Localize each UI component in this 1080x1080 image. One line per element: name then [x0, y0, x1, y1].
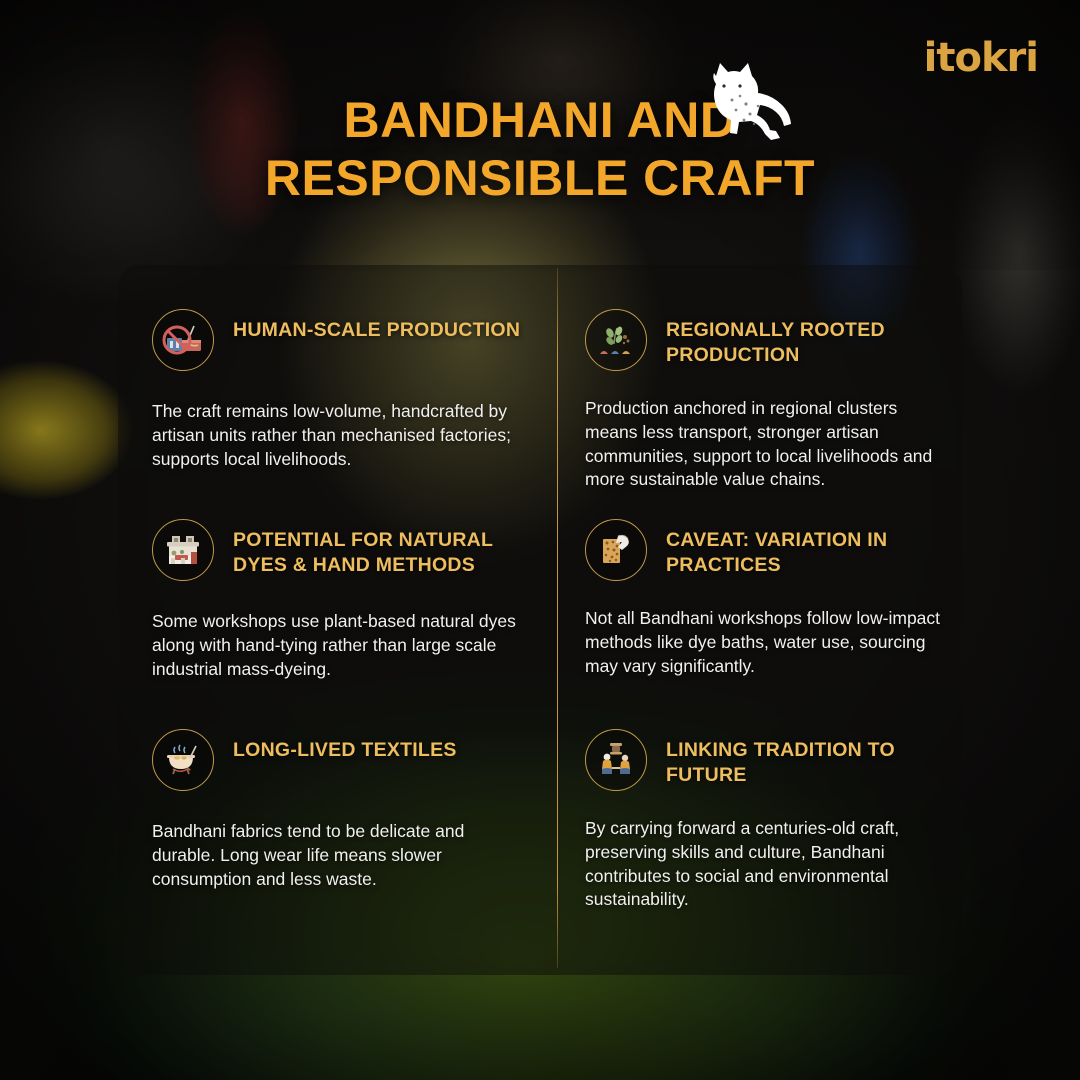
card-header: CAVEAT: VARIATION IN PRACTICES [585, 475, 944, 581]
page-title: BANDHANI AND RESPONSIBLE CRAFT [0, 92, 1080, 207]
card-header: REGIONALLY ROOTED PRODUCTION [585, 265, 944, 371]
card-grid: HUMAN-SCALE PRODUCTION The craft remains… [118, 265, 962, 975]
two-artisans-icon [585, 729, 647, 791]
card-header: LINKING TRADITION TO FUTURE [585, 685, 944, 791]
infographic-poster: itokri BANDHANI AND RESPONSIBLE CRAFT [0, 0, 1080, 1080]
card-caveat-variation-in-practices: CAVEAT: VARIATION IN PRACTICES Not all B… [557, 475, 962, 685]
card-body: Bandhani fabrics tend to be delicate and… [152, 820, 521, 891]
card-title: REGIONALLY ROOTED PRODUCTION [666, 309, 944, 367]
card-header: LONG-LIVED TEXTILES [152, 685, 521, 791]
no-factory-icon [152, 309, 214, 371]
card-body: The craft remains low-volume, handcrafte… [152, 400, 521, 471]
card-long-lived-textiles: LONG-LIVED TEXTILES Bandhani fabrics ten… [118, 685, 557, 975]
card-body: Not all Bandhani workshops follow low-im… [585, 607, 944, 678]
card-title: HUMAN-SCALE PRODUCTION [233, 309, 520, 343]
card-header: POTENTIAL FOR NATURAL DYES & HAND METHOD… [152, 475, 521, 581]
workshop-building-icon [152, 519, 214, 581]
card-header: HUMAN-SCALE PRODUCTION [152, 265, 521, 371]
card-title: LINKING TRADITION TO FUTURE [666, 729, 944, 787]
hand-holding-fabric-icon [585, 519, 647, 581]
page-title-line-2: RESPONSIBLE CRAFT [0, 150, 1080, 208]
card-regionally-rooted-production: REGIONALLY ROOTED PRODUCTION Production … [557, 265, 962, 475]
card-body: Some workshops use plant-based natural d… [152, 610, 521, 681]
page-title-line-1: BANDHANI AND [343, 92, 736, 148]
steaming-dye-pot-icon [152, 729, 214, 791]
brand-logo: itokri [924, 38, 1038, 78]
plant-dye-sprout-icon [585, 309, 647, 371]
card-title: LONG-LIVED TEXTILES [233, 729, 457, 763]
card-body: By carrying forward a centuries-old craf… [585, 817, 944, 912]
card-natural-dyes-hand-methods: POTENTIAL FOR NATURAL DYES & HAND METHOD… [118, 475, 557, 685]
card-title: CAVEAT: VARIATION IN PRACTICES [666, 519, 944, 577]
card-title: POTENTIAL FOR NATURAL DYES & HAND METHOD… [233, 519, 521, 577]
card-human-scale-production: HUMAN-SCALE PRODUCTION The craft remains… [118, 265, 557, 475]
card-linking-tradition-to-future: LINKING TRADITION TO FUTURE By carrying … [557, 685, 962, 975]
